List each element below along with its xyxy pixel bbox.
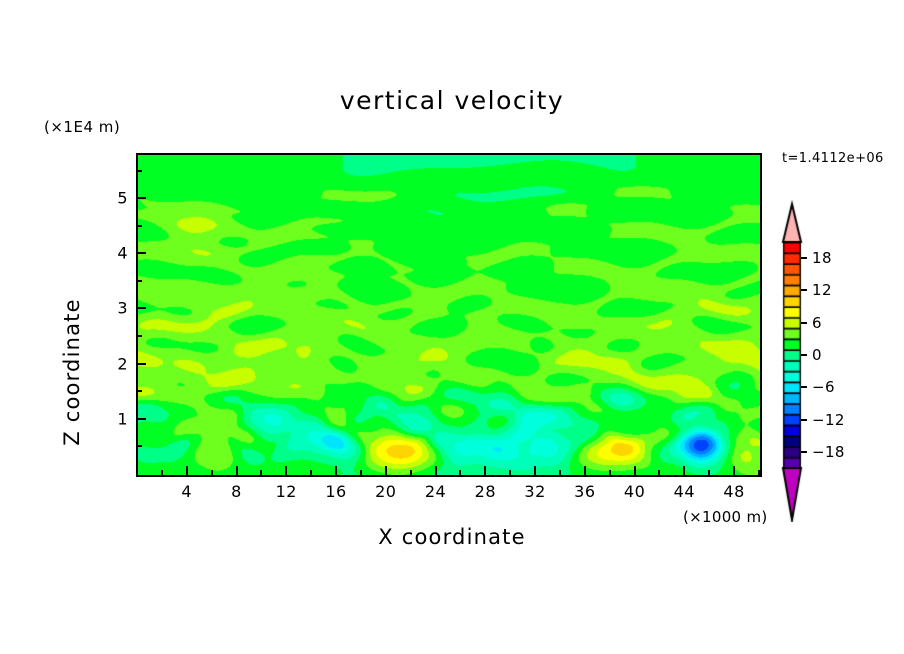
x-tick-major — [634, 466, 636, 475]
x-axis-title: X coordinate — [0, 525, 904, 549]
x-tick-minor — [310, 470, 312, 475]
colorbar-tick-label: 18 — [812, 249, 832, 267]
x-tick-major — [285, 466, 287, 475]
y-tick-major — [137, 252, 146, 254]
x-tick-major — [385, 466, 387, 475]
colorbar-tick-label: 12 — [812, 281, 832, 299]
y-tick-label: 4 — [117, 244, 128, 263]
colorbar-tick — [801, 322, 807, 324]
colorbar-tick-label: −6 — [812, 378, 835, 396]
x-tick-minor — [260, 470, 262, 475]
x-tick-minor — [161, 470, 163, 475]
y-tick-major — [137, 197, 146, 199]
y-tick-minor — [137, 225, 142, 227]
colorbar-tick — [801, 419, 807, 421]
x-tick-label: 28 — [475, 482, 496, 501]
velocity-field-contour — [138, 155, 760, 475]
x-tick-label: 48 — [723, 482, 744, 501]
x-tick-major — [236, 466, 238, 475]
x-tick-label: 40 — [624, 482, 645, 501]
x-tick-label: 24 — [425, 482, 446, 501]
x-tick-minor — [211, 470, 213, 475]
x-tick-major — [186, 466, 188, 475]
x-tick-label: 36 — [574, 482, 595, 501]
x-tick-major — [435, 466, 437, 475]
x-tick-major — [534, 466, 536, 475]
x-tick-minor — [708, 470, 710, 475]
y-tick-label: 3 — [117, 299, 128, 318]
plot-area — [136, 153, 762, 477]
x-tick-minor — [509, 470, 511, 475]
y-axis-unit-label: (×1E4 m) — [44, 118, 120, 136]
x-tick-label: 12 — [276, 482, 297, 501]
y-tick-major — [137, 307, 146, 309]
time-annotation: t=1.4112e+06 — [782, 151, 884, 166]
x-tick-major — [733, 466, 735, 475]
y-tick-major — [137, 363, 146, 365]
x-tick-major — [584, 466, 586, 475]
x-tick-minor — [559, 470, 561, 475]
x-tick-minor — [410, 470, 412, 475]
colorbar-tick — [801, 386, 807, 388]
colorbar-tick — [801, 289, 807, 291]
colorbar-tick-label: −12 — [812, 411, 845, 429]
colorbar-tick — [801, 257, 807, 259]
x-tick-minor — [658, 470, 660, 475]
x-tick-major — [683, 466, 685, 475]
x-tick-minor — [459, 470, 461, 475]
y-tick-minor — [137, 390, 142, 392]
y-axis-title: Z coordinate — [60, 252, 84, 492]
y-tick-label: 1 — [117, 409, 128, 428]
x-tick-minor — [758, 470, 760, 475]
colorbar-gradient — [770, 196, 810, 522]
x-tick-label: 4 — [181, 482, 192, 501]
y-tick-major — [137, 418, 146, 420]
x-tick-label: 20 — [375, 482, 396, 501]
x-tick-minor — [360, 470, 362, 475]
colorbar-tick-label: −18 — [812, 443, 845, 461]
x-tick-major — [484, 466, 486, 475]
y-tick-minor — [137, 335, 142, 337]
x-tick-label: 8 — [231, 482, 242, 501]
x-axis-unit-label: (×1000 m) — [683, 508, 768, 526]
x-tick-major — [335, 466, 337, 475]
colorbar: 181260−6−12−18 — [770, 196, 880, 522]
x-tick-label: 16 — [325, 482, 346, 501]
y-tick-minor — [137, 445, 142, 447]
y-tick-minor — [137, 280, 142, 282]
y-tick-label: 2 — [117, 354, 128, 373]
x-tick-minor — [609, 470, 611, 475]
y-tick-label: 5 — [117, 189, 128, 208]
colorbar-tick-label: 0 — [812, 346, 822, 364]
y-tick-minor — [137, 170, 142, 172]
chart-title: vertical velocity — [0, 86, 904, 115]
colorbar-tick-label: 6 — [812, 314, 822, 332]
colorbar-tick — [801, 451, 807, 453]
x-tick-label: 44 — [674, 482, 695, 501]
colorbar-tick — [801, 354, 807, 356]
x-tick-label: 32 — [524, 482, 545, 501]
